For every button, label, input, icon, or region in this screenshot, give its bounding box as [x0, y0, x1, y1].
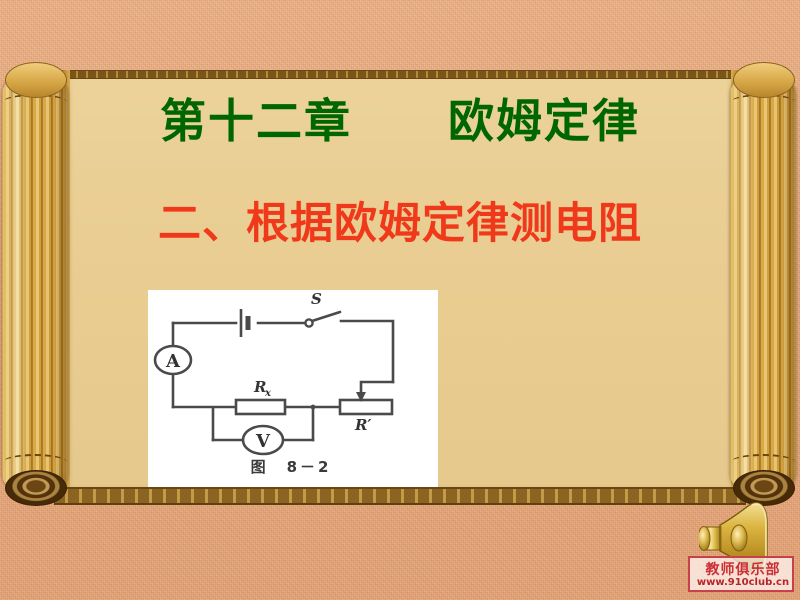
scroll-roll-left-cap-top: [5, 62, 67, 98]
scroll-roll-right-sheen: [736, 74, 754, 494]
circuit-diagram-image: S A V R x R′ 图 8－2: [148, 290, 438, 487]
scroll-roll-left: [2, 58, 68, 510]
junction-dot: [311, 405, 316, 410]
speaker-dome: [731, 525, 747, 551]
parchment-top-edge: [68, 70, 732, 79]
switch-label: S: [311, 290, 322, 308]
parchment-bottom-edge: [54, 487, 746, 505]
scroll-roll-right: [730, 58, 796, 510]
page-subtitle: 二、根据欧姆定律测电阻: [68, 196, 732, 252]
watermark-url: www.910club.cn: [690, 577, 794, 588]
wire-switch-right-rail: [341, 321, 393, 382]
slide-canvas: 第十二章 欧姆定律 二、根据欧姆定律测电阻: [0, 0, 800, 600]
battery-symbol: [241, 309, 248, 337]
circuit-caption: 图 8－2: [251, 458, 332, 476]
rheostat-symbol: [340, 400, 392, 414]
resistor-rx-sublabel: x: [264, 388, 272, 399]
resistor-rx-symbol: [236, 400, 285, 414]
scroll-roll-left-cap-bottom: [5, 470, 67, 506]
circuit-diagram-svg: S A V R x R′ 图 8－2: [148, 290, 438, 487]
scroll-roll-left-sheen: [8, 74, 26, 494]
rheostat-label: R′: [354, 416, 371, 434]
ammeter-label: A: [165, 351, 181, 372]
page-title: 第十二章 欧姆定律: [68, 92, 732, 150]
speaker-back-cap: [699, 527, 710, 551]
watermark-chinese: 教师俱乐部: [690, 559, 794, 579]
watermark-badge: 教师俱乐部 www.910club.cn: [688, 556, 794, 592]
switch-symbol: [305, 312, 340, 327]
scroll-roll-right-cap-top: [733, 62, 795, 98]
voltmeter-label: V: [255, 431, 271, 452]
